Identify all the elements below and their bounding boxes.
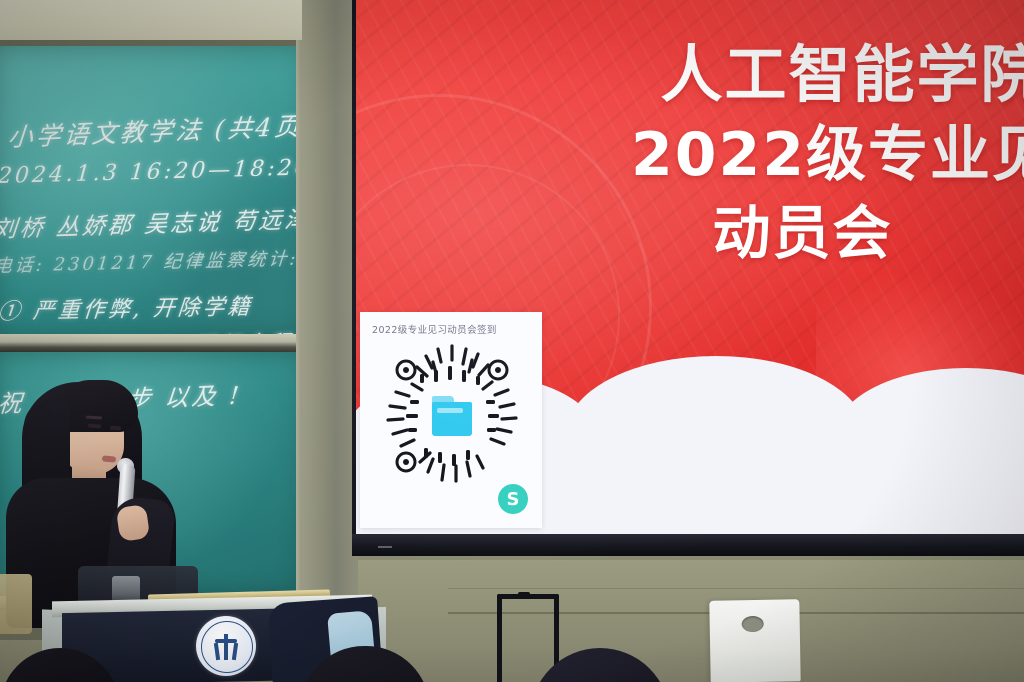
lecture-hall-photo: 小学语文教学法 (共4页) 2024.1.3 16:20—18:20 刘桥 丛娇… [0,0,1024,682]
blackboard-upper-panel: 小学语文教学法 (共4页) 2024.1.3 16:20—18:20 刘桥 丛娇… [0,46,306,336]
qr-signin-card[interactable]: 2022级专业见习动员会签到 [360,312,542,528]
speaker-eye-right [110,426,121,431]
university-emblem-icon [196,616,256,676]
slide-title-block: 人工智能学院 2022级专业见习 动员会 [631,42,1020,264]
slide-title-line-2: 2022级专业见习 [631,123,1024,188]
display-screen[interactable]: 人工智能学院 2022级专业见习 动员会 2022级专业见习动员会签到 [356,0,1024,534]
podium-cup [112,576,140,602]
speaker-eye-left [88,424,101,429]
wall-seam-upper [448,588,1024,589]
display-indicator-icon [378,546,392,548]
speaker-hand [116,504,150,542]
slide-title-line-3: 动员会 [631,202,974,265]
chalk-line-2: 2024.1.3 16:20—18:20 [0,155,313,189]
white-chair [709,599,800,682]
qr-card-caption: 2022级专业见习动员会签到 [372,322,532,336]
display-bottom-bar [352,534,1024,556]
foreground-post [0,574,32,634]
blackboard-chalk-rail [0,334,306,353]
chalk-line-1: 小学语文教学法 (共4页) [6,106,316,154]
chair-backrest-hole [742,616,764,632]
chalk-line-5: ① 严重作弊, 开除学籍 [0,289,254,326]
chalk-line-3: 刘桥 丛娇郡 吴志说 苟远泽 [0,200,312,244]
qr-code-icon[interactable] [376,340,528,492]
wechat-miniprogram-badge-icon: S [498,484,528,514]
slide-title-line-1: 人工智能学院 [631,42,1024,109]
equipment-stand-knob [518,592,530,597]
speaker-mouth [102,455,116,462]
wall-strip-between-board-and-screen [302,0,358,640]
qr-center-logo-icon [428,394,476,438]
